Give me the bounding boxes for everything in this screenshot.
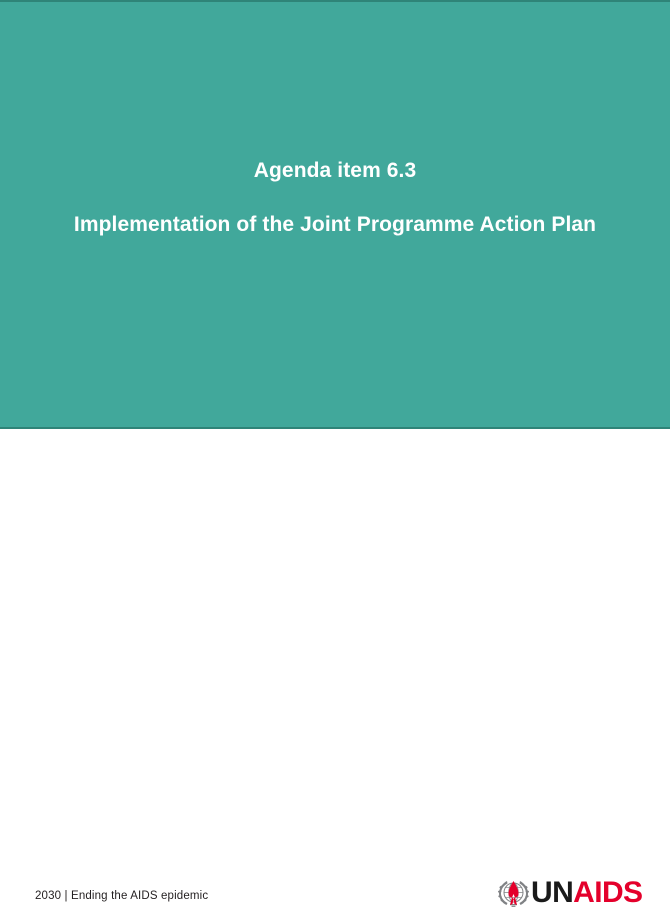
agenda-item-heading: Agenda item 6.3 [0, 157, 670, 185]
footer-tagline: 2030 | Ending the AIDS epidemic [35, 890, 208, 902]
unaids-logo: UNAIDS [497, 876, 642, 909]
title-spacer [0, 185, 670, 211]
slide-footer: 2030 | Ending the AIDS epidemic [0, 429, 670, 503]
unaids-wordmark-aids: AIDS [573, 876, 642, 909]
presentation-slide: Agenda item 6.3 Implementation of the Jo… [0, 0, 670, 503]
title-block: Agenda item 6.3 Implementation of the Jo… [0, 157, 670, 239]
unaids-wordmark: UNAIDS [531, 878, 642, 908]
unaids-wordmark-un: UN [531, 876, 573, 909]
slide-title: Implementation of the Joint Programme Ac… [0, 211, 670, 239]
unaids-emblem-icon [497, 877, 530, 908]
title-panel: Agenda item 6.3 Implementation of the Jo… [0, 0, 670, 429]
